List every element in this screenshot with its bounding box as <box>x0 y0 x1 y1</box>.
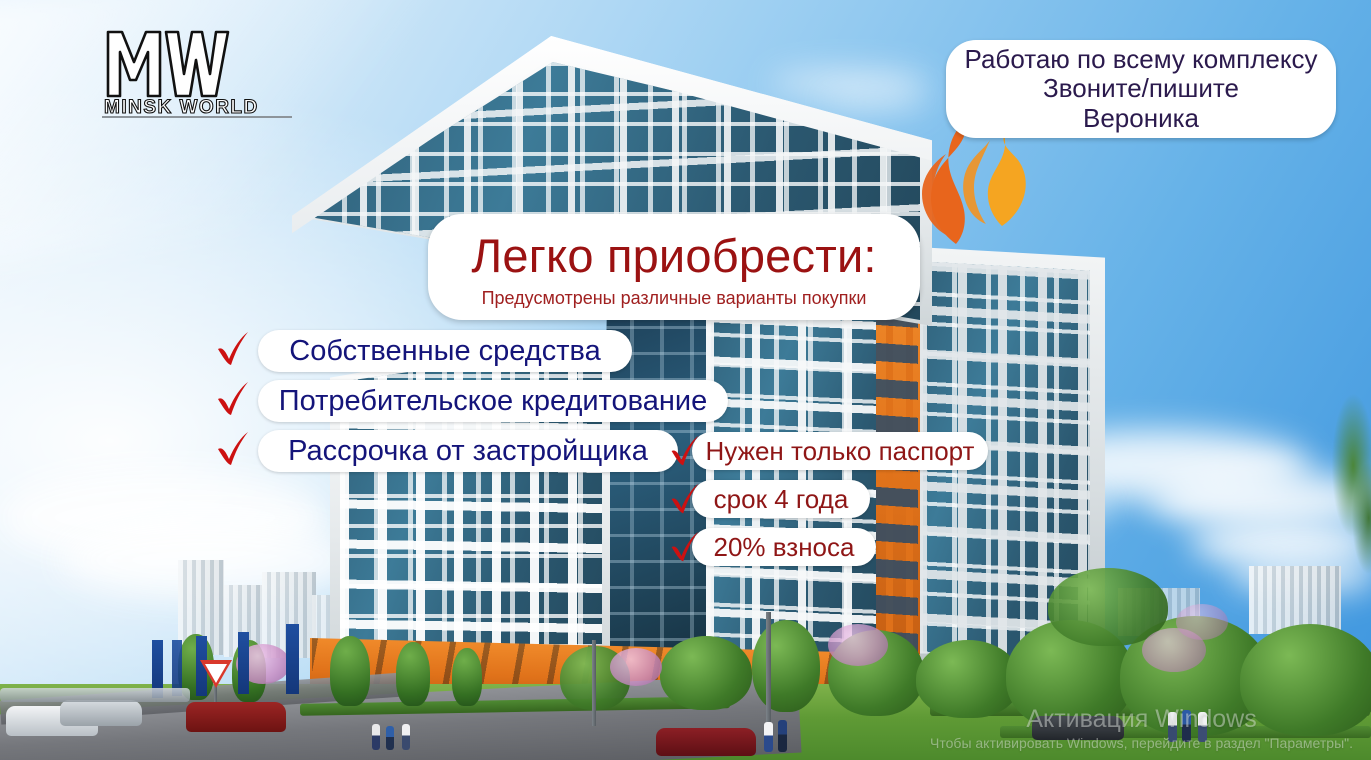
person <box>778 720 787 752</box>
sublist-item-1[interactable]: Нужен только паспорт <box>692 432 988 470</box>
poster-canvas: MINSK WORLD Работаю по всему комплексу З… <box>0 0 1371 760</box>
callout-line-3: Вероника <box>1083 104 1199 133</box>
checklist-item-label: Собственные средства <box>289 335 600 368</box>
sublist-item-label: срок 4 года <box>714 484 849 515</box>
sublist-item-label: 20% взноса <box>714 532 855 563</box>
checklist-item-2[interactable]: Потребительское кредитование <box>258 380 728 422</box>
street-banner <box>286 624 299 694</box>
sublist-item-3[interactable]: 20% взноса <box>692 528 876 566</box>
street-banner <box>238 632 249 694</box>
person <box>1198 712 1207 742</box>
minsk-world-logo[interactable]: MINSK WORLD <box>96 18 296 118</box>
checklist-item-label: Рассрочка от застройщика <box>288 435 648 468</box>
mw-monogram-icon: MINSK WORLD <box>96 18 296 118</box>
blossom-tree <box>828 624 888 666</box>
flame-tongue-right <box>988 134 1026 226</box>
sublist-item-label: Нужен только паспорт <box>706 436 975 467</box>
car <box>1032 716 1124 740</box>
hanging-branch <box>1316 392 1371 602</box>
callout-line-2: Звоните/пишите <box>1043 74 1239 103</box>
tree <box>660 636 752 710</box>
checklist-item-1[interactable]: Собственные средства <box>258 330 632 372</box>
tree <box>916 640 1020 718</box>
tree <box>1240 624 1371 736</box>
tree <box>396 642 430 706</box>
lamp-pole <box>592 640 596 726</box>
lamp-pole <box>766 612 771 722</box>
car <box>60 700 142 726</box>
yield-sign-inner <box>205 664 227 683</box>
agent-callout[interactable]: Работаю по всему комплексу Звоните/пишит… <box>946 40 1336 138</box>
check-mark-icon <box>214 380 252 418</box>
car <box>0 688 190 702</box>
flame-tongue-mid <box>963 140 990 224</box>
person <box>1168 712 1177 742</box>
page-subtitle: Предусмотрены различные варианты покупки <box>428 288 920 309</box>
building-center-right-frames <box>706 272 876 670</box>
person <box>764 722 773 752</box>
tree <box>752 620 820 712</box>
person <box>386 726 394 750</box>
check-mark-icon <box>214 430 252 468</box>
checklist-item-3[interactable]: Рассрочка от застройщика <box>258 430 678 472</box>
headline-card: Легко приобрести: Предусмотрены различны… <box>428 214 920 320</box>
blossom-tree <box>610 648 662 686</box>
callout-line-1: Работаю по всему комплексу <box>964 45 1317 74</box>
person <box>372 724 380 750</box>
tree <box>330 636 370 706</box>
sublist-item-2[interactable]: срок 4 года <box>692 480 870 518</box>
person <box>1182 710 1191 742</box>
page-title: Легко приобрести: <box>428 228 920 283</box>
tree <box>452 648 482 706</box>
person <box>402 724 410 750</box>
car <box>186 702 286 732</box>
logo-wordmark: MINSK WORLD <box>104 97 259 118</box>
checklist-item-label: Потребительское кредитование <box>279 385 707 418</box>
car <box>656 728 756 756</box>
cloud <box>820 92 930 110</box>
blossom-tree <box>1176 604 1228 640</box>
check-mark-icon <box>214 330 252 368</box>
